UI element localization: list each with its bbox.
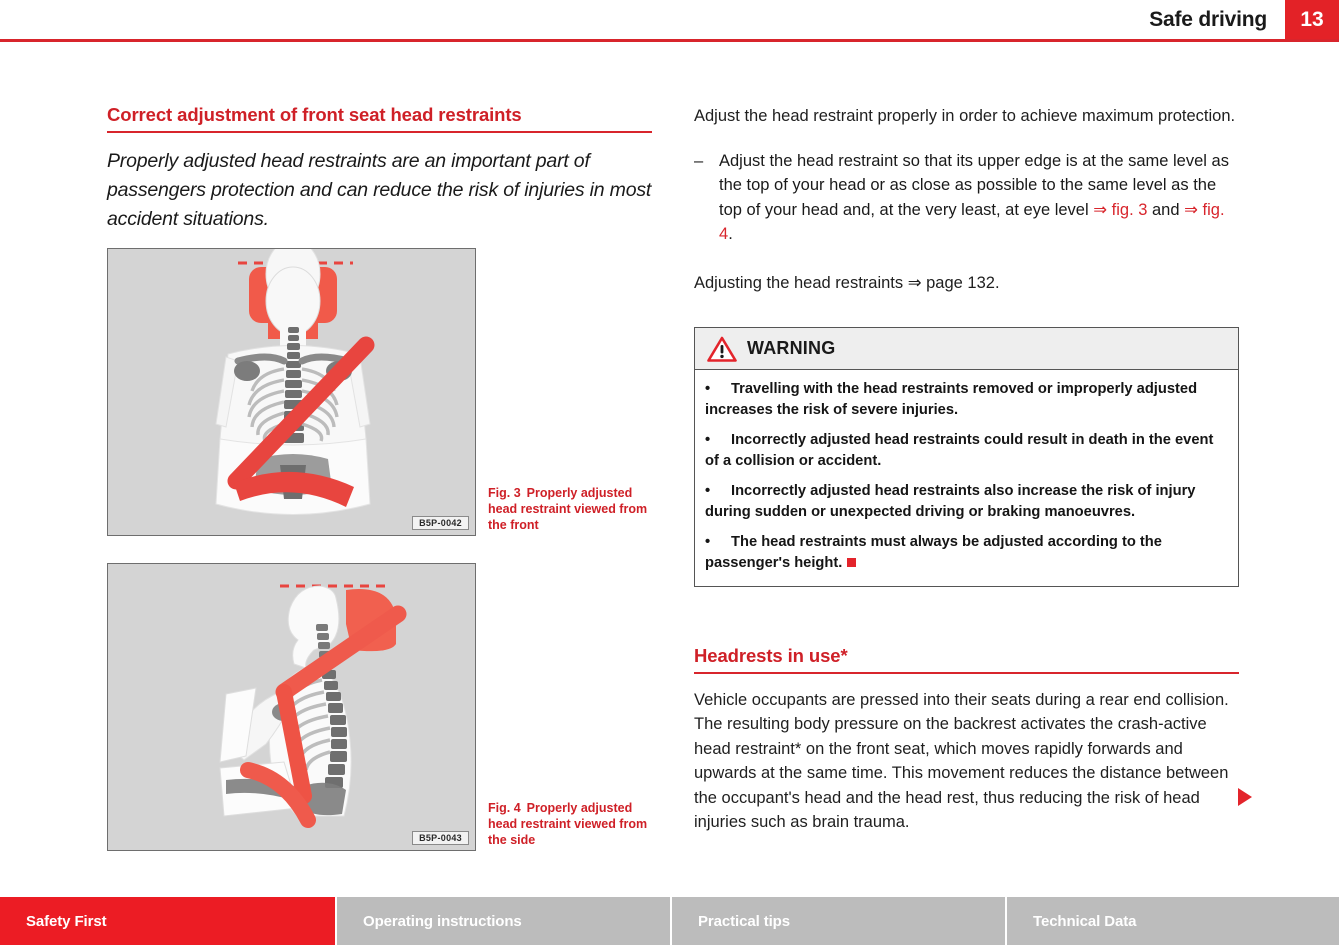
figure-3-image: B5P-0042: [107, 248, 476, 536]
bullet-glyph-1: •: [705, 379, 731, 400]
header-divider: [0, 39, 1339, 42]
page-reference-line: Adjusting the head restraints ⇒ page 132…: [694, 271, 1239, 296]
page-header: Safe driving 13: [0, 0, 1339, 40]
warning-body: •Travelling with the head restraints rem…: [695, 370, 1238, 586]
warning-bullet-3: •Incorrectly adjusted head restraints al…: [705, 481, 1228, 523]
warning-bullet-4: •The head restraints must always be adju…: [705, 532, 1228, 574]
figure-3: B5P-0042 Fig. 3Properly adjusted head re…: [107, 248, 660, 538]
section-heading-head-restraints: Correct adjustment of front seat head re…: [107, 104, 652, 131]
figure-4-code: B5P-0043: [412, 831, 469, 845]
figure-3-caption: Fig. 3Properly adjusted head restraint v…: [488, 485, 653, 533]
bullet-glyph-3: •: [705, 481, 731, 502]
footer-tab-technical-data[interactable]: Technical Data: [1005, 897, 1339, 945]
warning-title: WARNING: [747, 338, 835, 359]
front-view-illustration: [108, 249, 475, 535]
instruction-text-tail: .: [728, 225, 733, 243]
section-heading-rule: [107, 131, 652, 133]
right-intro-paragraph: Adjust the head restraint properly in or…: [694, 104, 1239, 129]
figure-3-label: Fig. 3: [488, 486, 521, 500]
figure-3-code: B5P-0042: [412, 516, 469, 530]
footer-tab-operating-instructions[interactable]: Operating instructions: [335, 897, 670, 945]
xref-fig-3[interactable]: ⇒ fig. 3: [1093, 201, 1147, 219]
document-page: Safe driving 13 Correct adjustment of fr…: [0, 0, 1339, 945]
warning-box: WARNING •Travelling with the head restra…: [694, 327, 1239, 587]
warning-bullet-1: •Travelling with the head restraints rem…: [705, 379, 1228, 421]
instruction-text: Adjust the head restraint so that its up…: [719, 149, 1239, 247]
page-title: Safe driving: [1149, 8, 1267, 32]
side-view-illustration: [108, 564, 475, 850]
instruction-dash-item: – Adjust the head restraint so that its …: [694, 149, 1239, 247]
warning-header: WARNING: [695, 328, 1238, 370]
figure-4-caption: Fig. 4Properly adjusted head restraint v…: [488, 800, 653, 848]
bullet-glyph-4: •: [705, 532, 731, 553]
warning-bullet-3-text: Incorrectly adjusted head restraints als…: [705, 483, 1195, 520]
left-column: Correct adjustment of front seat head re…: [107, 104, 652, 234]
figure-4: B5P-0043 Fig. 4Properly adjusted head re…: [107, 563, 660, 853]
footer-tab-practical-tips[interactable]: Practical tips: [670, 897, 1005, 945]
figure-4-label: Fig. 4: [488, 801, 521, 815]
headrests-body-text: Vehicle occupants are pressed into their…: [694, 688, 1239, 835]
footer-tabs: Safety First Operating instructions Prac…: [0, 897, 1339, 945]
footer-tab-safety-first[interactable]: Safety First: [0, 897, 335, 945]
right-column: Adjust the head restraint properly in or…: [694, 104, 1239, 835]
warning-bullet-1-text: Travelling with the head restraints remo…: [705, 381, 1197, 418]
warning-triangle-icon: [707, 336, 737, 362]
section-heading-headrests: Headrests in use*: [694, 645, 1239, 672]
dash-marker: –: [694, 149, 719, 247]
headrests-heading-rule: [694, 672, 1239, 674]
warning-bullet-2-text: Incorrectly adjusted head restraints cou…: [705, 432, 1213, 469]
xref-conjunction: and: [1147, 201, 1184, 219]
figure-4-image: B5P-0043: [107, 563, 476, 851]
headrests-in-use-section: Headrests in use* Vehicle occupants are …: [694, 645, 1239, 835]
bullet-glyph-2: •: [705, 430, 731, 451]
warning-bullet-2: •Incorrectly adjusted head restraints co…: [705, 430, 1228, 472]
intro-paragraph: Properly adjusted head restraints are an…: [107, 147, 652, 234]
warning-bullet-4-text: The head restraints must always be adjus…: [705, 534, 1162, 571]
section-end-marker: [847, 558, 856, 567]
continue-triangle-icon: [1238, 788, 1252, 806]
page-number-badge: 13: [1285, 0, 1339, 39]
